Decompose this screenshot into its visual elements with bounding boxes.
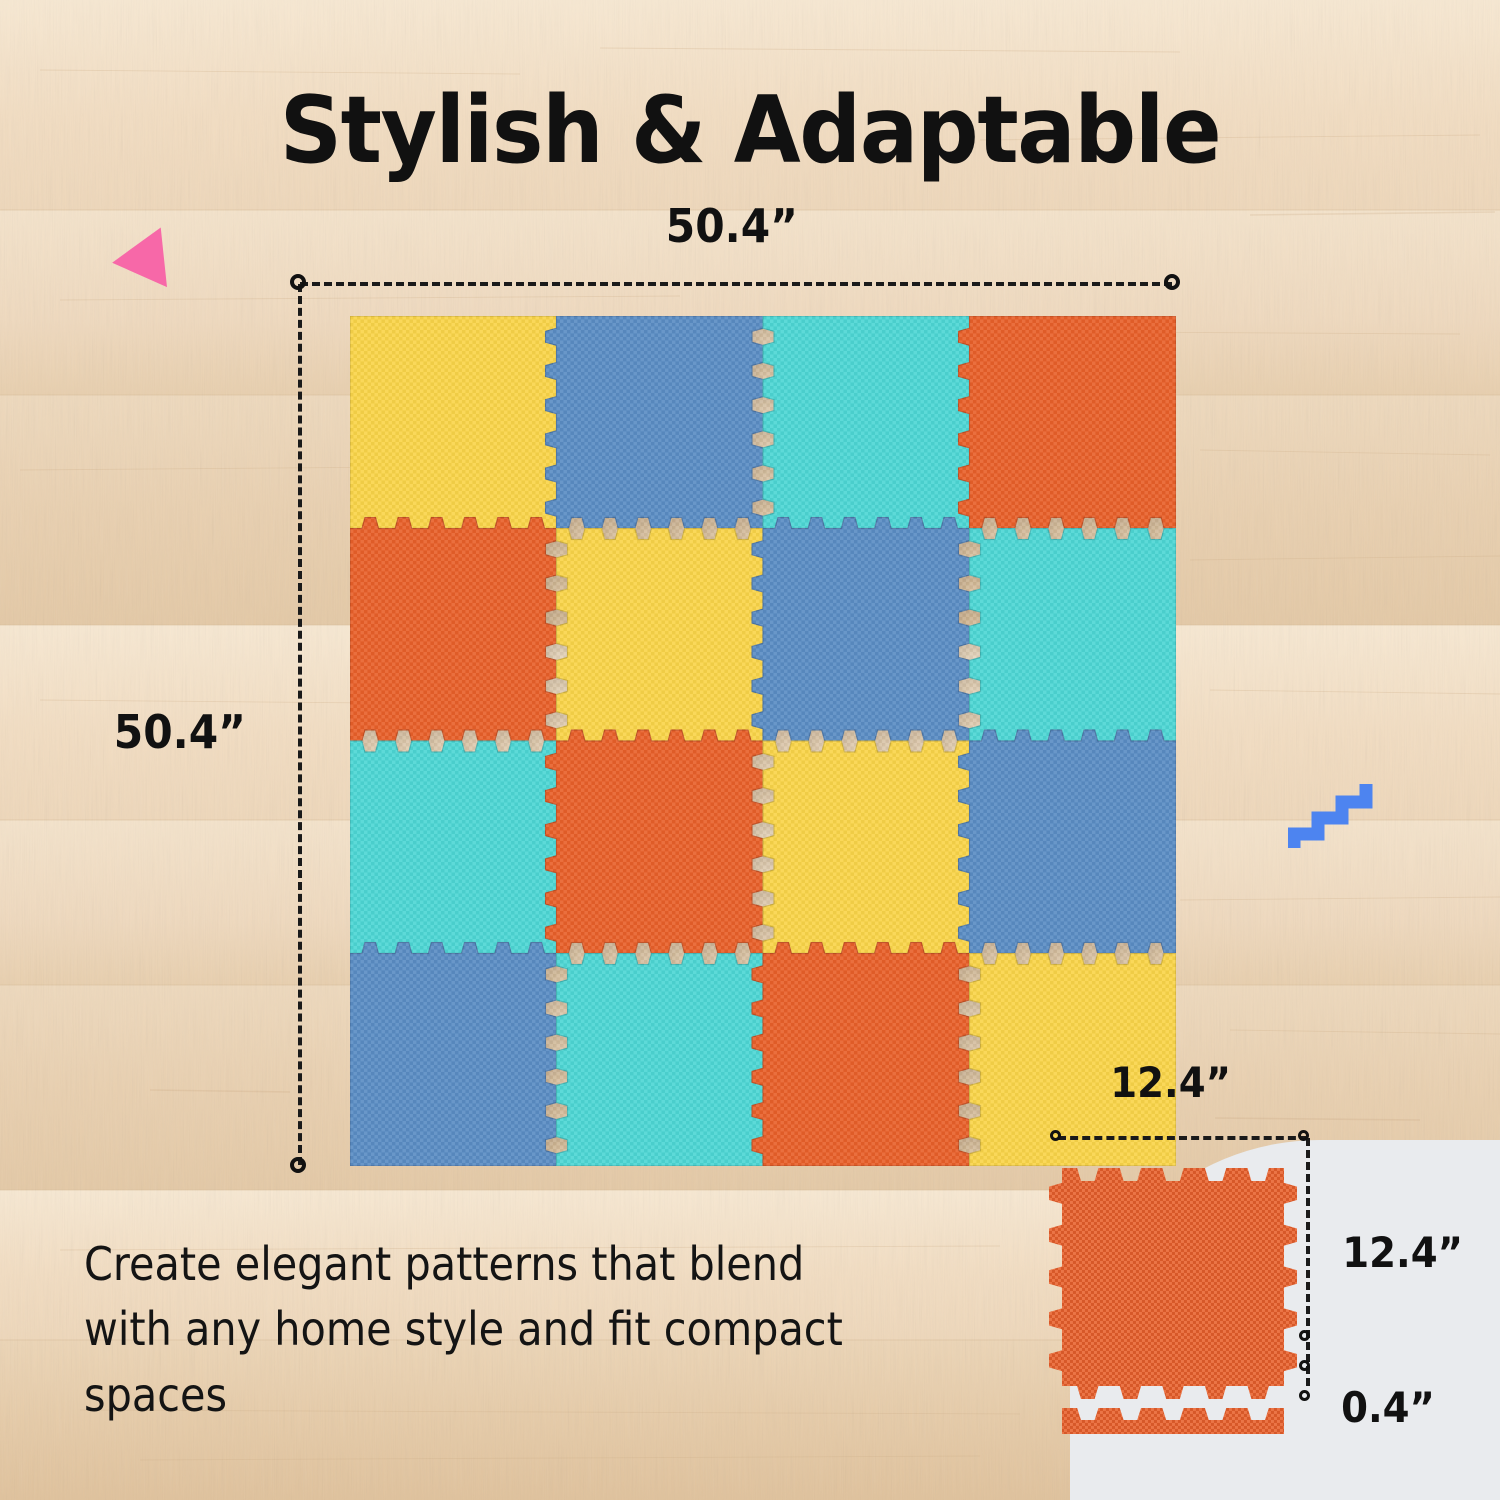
mat-height-label: 50.4” — [114, 705, 246, 759]
single-tile-inset — [1040, 1150, 1320, 1450]
tile-height-label: 12.4” — [1342, 1228, 1463, 1277]
measure-endpoint — [290, 274, 306, 290]
tile-width-measure-line — [1058, 1136, 1308, 1140]
inset-tile-side-texture — [1062, 1408, 1284, 1434]
tile-height-measure-line — [1306, 1138, 1310, 1386]
mat-width-label: 50.4” — [666, 199, 798, 253]
caption-text: Create elegant patterns that blend with … — [84, 1232, 894, 1428]
mat-width-measure-line — [300, 282, 1172, 286]
measure-endpoint — [1164, 274, 1180, 290]
triangle-left-icon — [109, 227, 167, 292]
inset-tile-texture — [1049, 1168, 1297, 1399]
measure-endpoint — [1298, 1130, 1309, 1141]
measure-endpoint — [1299, 1360, 1310, 1371]
tile-side-view — [1062, 1408, 1284, 1434]
page-title: Stylish & Adaptable — [53, 76, 1448, 184]
foam-mat-grid — [350, 316, 1176, 1166]
tile-thickness-label: 0.4” — [1341, 1383, 1435, 1432]
zigzag-icon — [1288, 778, 1384, 856]
tile-width-label: 12.4” — [1110, 1058, 1231, 1107]
measure-endpoint — [1050, 1130, 1061, 1141]
measure-endpoint — [1299, 1390, 1310, 1401]
tile-top-view — [1049, 1168, 1297, 1399]
measure-endpoint — [1299, 1330, 1310, 1341]
measure-endpoint — [290, 1157, 306, 1173]
mat-height-measure-line — [298, 284, 302, 1165]
